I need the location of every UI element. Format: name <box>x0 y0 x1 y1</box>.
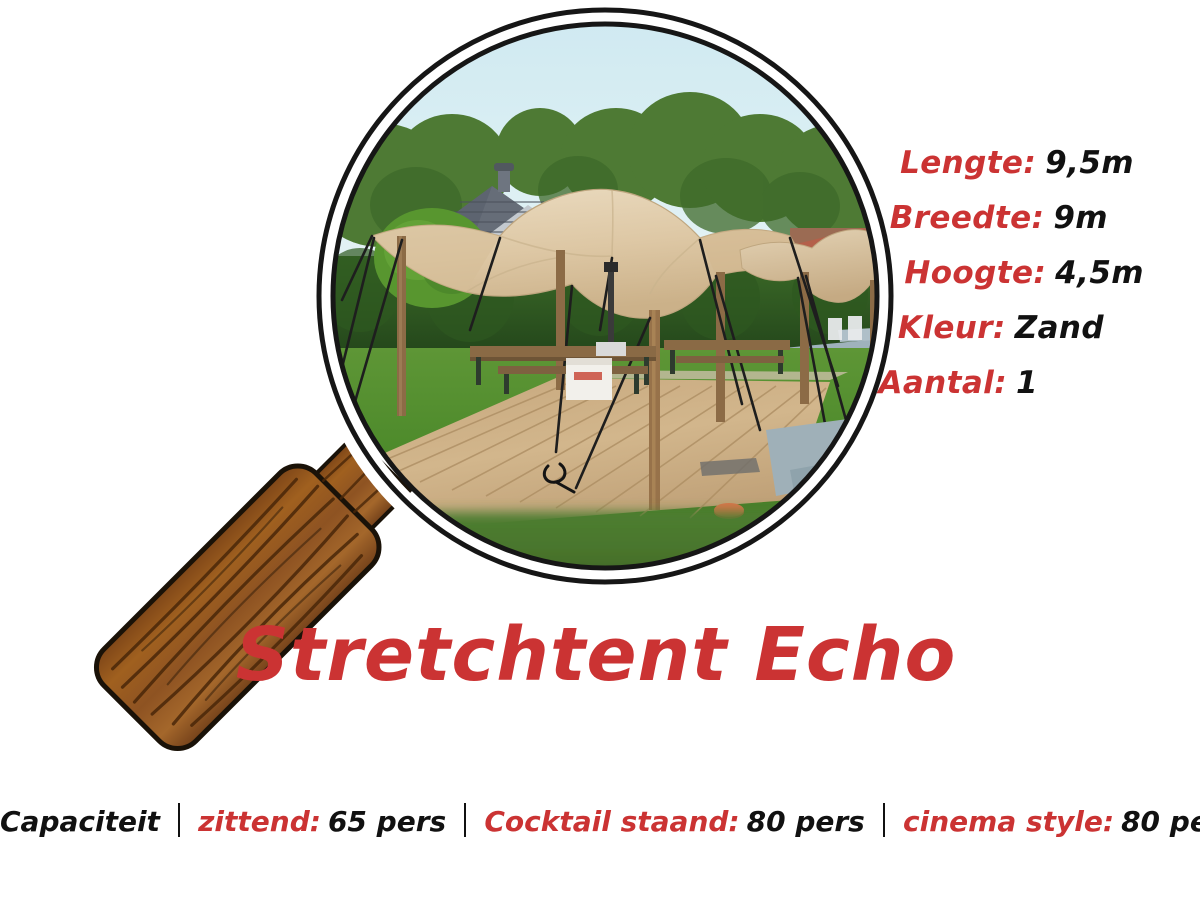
spec-value-hoogte: 4,5m <box>1055 255 1144 291</box>
spec-row-hoogte: Hoogte:4,5m <box>728 258 1148 289</box>
spec-row-kleur: Kleur:Zand <box>728 313 1148 344</box>
capacity-label-cocktail-staand: Cocktail staand: <box>484 805 739 838</box>
capacity-value-cinema-style: 80 pers <box>1121 805 1200 838</box>
capacity-separator-2 <box>464 803 466 837</box>
capacity-item-zittend: zittend:65 pers <box>198 805 446 838</box>
spec-value-kleur: Zand <box>1015 310 1104 346</box>
spec-value-breedte: 9m <box>1053 200 1108 236</box>
capacity-heading-label: Capaciteit <box>0 805 160 838</box>
capacity-separator-1 <box>178 803 180 837</box>
spec-row-breedte: Breedte:9m <box>728 203 1148 234</box>
capacity-label-cinema-style: cinema style: <box>903 805 1114 838</box>
spec-label-lengte: Lengte: <box>900 145 1036 181</box>
capacity-value-zittend: 65 pers <box>328 805 446 838</box>
spec-row-lengte: Lengte:9,5m <box>728 148 1148 179</box>
spec-row-aantal: Aantal:1 <box>728 368 1148 399</box>
magnifying-glass-icon <box>0 0 1200 900</box>
spec-label-breedte: Breedte: <box>890 200 1045 236</box>
capacity-bar: Capaciteit zittend:65 pers Cocktail staa… <box>0 803 1200 838</box>
spec-value-aantal: 1 <box>1016 365 1038 401</box>
spec-value-lengte: 9,5m <box>1045 145 1134 181</box>
spec-label-hoogte: Hoogte: <box>904 255 1046 291</box>
capacity-item-cinema-style: cinema style:80 pers <box>903 805 1200 838</box>
spec-label-aantal: Aantal: <box>878 365 1007 401</box>
capacity-label-zittend: zittend: <box>198 805 321 838</box>
specification-list: Lengte:9,5m Breedte:9m Hoogte:4,5m Kleur… <box>728 148 1148 399</box>
capacity-separator-3 <box>883 803 885 837</box>
white-box <box>566 358 612 400</box>
capacity-value-cocktail-staand: 80 pers <box>747 805 865 838</box>
page-title: Stretchtent Echo <box>0 612 1196 698</box>
capacity-item-cocktail-staand: Cocktail staand:80 pers <box>484 805 864 838</box>
spec-label-kleur: Kleur: <box>898 310 1006 346</box>
capacity-heading: Capaciteit <box>0 805 160 838</box>
product-info-card: Lengte:9,5m Breedte:9m Hoogte:4,5m Kleur… <box>0 0 1200 900</box>
